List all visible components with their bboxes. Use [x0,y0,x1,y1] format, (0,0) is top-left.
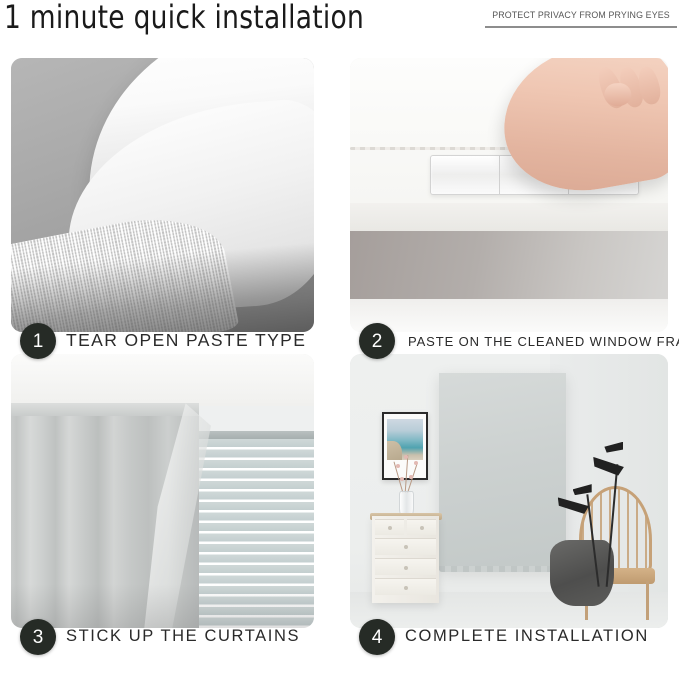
branch-bud-2 [396,464,400,468]
window-lower-wall [350,231,668,305]
blind-bottom-hem [439,566,566,571]
step-1-caption: TEAR OPEN PASTE TYPE [66,330,306,351]
step-number-badge-2: 2 [359,323,395,359]
step-number-badge-1: 1 [20,323,56,359]
installed-blackout-blind [439,373,566,570]
branch-bud-4 [409,475,413,479]
tagline-block: PROTECT PRIVACY FROM PRYING EYES [485,10,677,28]
step-card-2[interactable]: 2 PASTE ON THE CLEANED WINDOW FRAME [350,58,668,332]
window-floor-glow [350,299,668,332]
step-number-badge-3: 3 [20,619,56,655]
dresser [372,516,439,604]
step-4-caption: COMPLETE INSTALLATION [405,627,649,646]
framed-picture [382,412,428,481]
window-sill [350,203,668,230]
step-2-photo [350,58,668,332]
step-card-4[interactable]: 4 COMPLETE INSTALLATION [350,354,668,628]
picture-artwork [387,419,422,460]
curtain-bottom-shadow [11,584,314,628]
step-2-caption: PASTE ON THE CLEANED WINDOW FRAME [408,334,679,349]
step-3-caption-row: 3 STICK UP THE CURTAINS [11,628,314,672]
steps-grid: 1 TEAR OPEN PASTE TYPE [0,58,679,658]
step-3-photo [11,354,314,628]
chair-leg-right [646,581,649,619]
adhesive-strip-seam-1 [499,156,500,194]
step-1-photo [11,58,314,332]
step-4-photo [350,354,668,628]
tagline-divider [485,26,677,28]
draped-throw-blanket [550,540,614,606]
curtain-header-band [11,403,199,415]
thumb [604,83,631,107]
tagline-text: PROTECT PRIVACY FROM PRYING EYES [492,10,671,21]
step-card-1[interactable]: 1 TEAR OPEN PASTE TYPE [11,58,314,332]
installation-guide-page: 1 minute quick installation PROTECT PRIV… [0,0,679,684]
step-number-badge-4: 4 [359,619,395,655]
ceiling [11,354,314,406]
step-card-3[interactable]: 3 STICK UP THE CURTAINS [11,354,314,628]
page-title: 1 minute quick installation [4,0,364,36]
step-4-caption-row: 4 COMPLETE INSTALLATION [350,628,668,672]
artwork-shoreline [387,441,402,460]
page-header: 1 minute quick installation PROTECT PRIV… [0,0,679,55]
dresser-knob-4 [404,566,408,570]
step-3-caption: STICK UP THE CURTAINS [66,627,300,646]
